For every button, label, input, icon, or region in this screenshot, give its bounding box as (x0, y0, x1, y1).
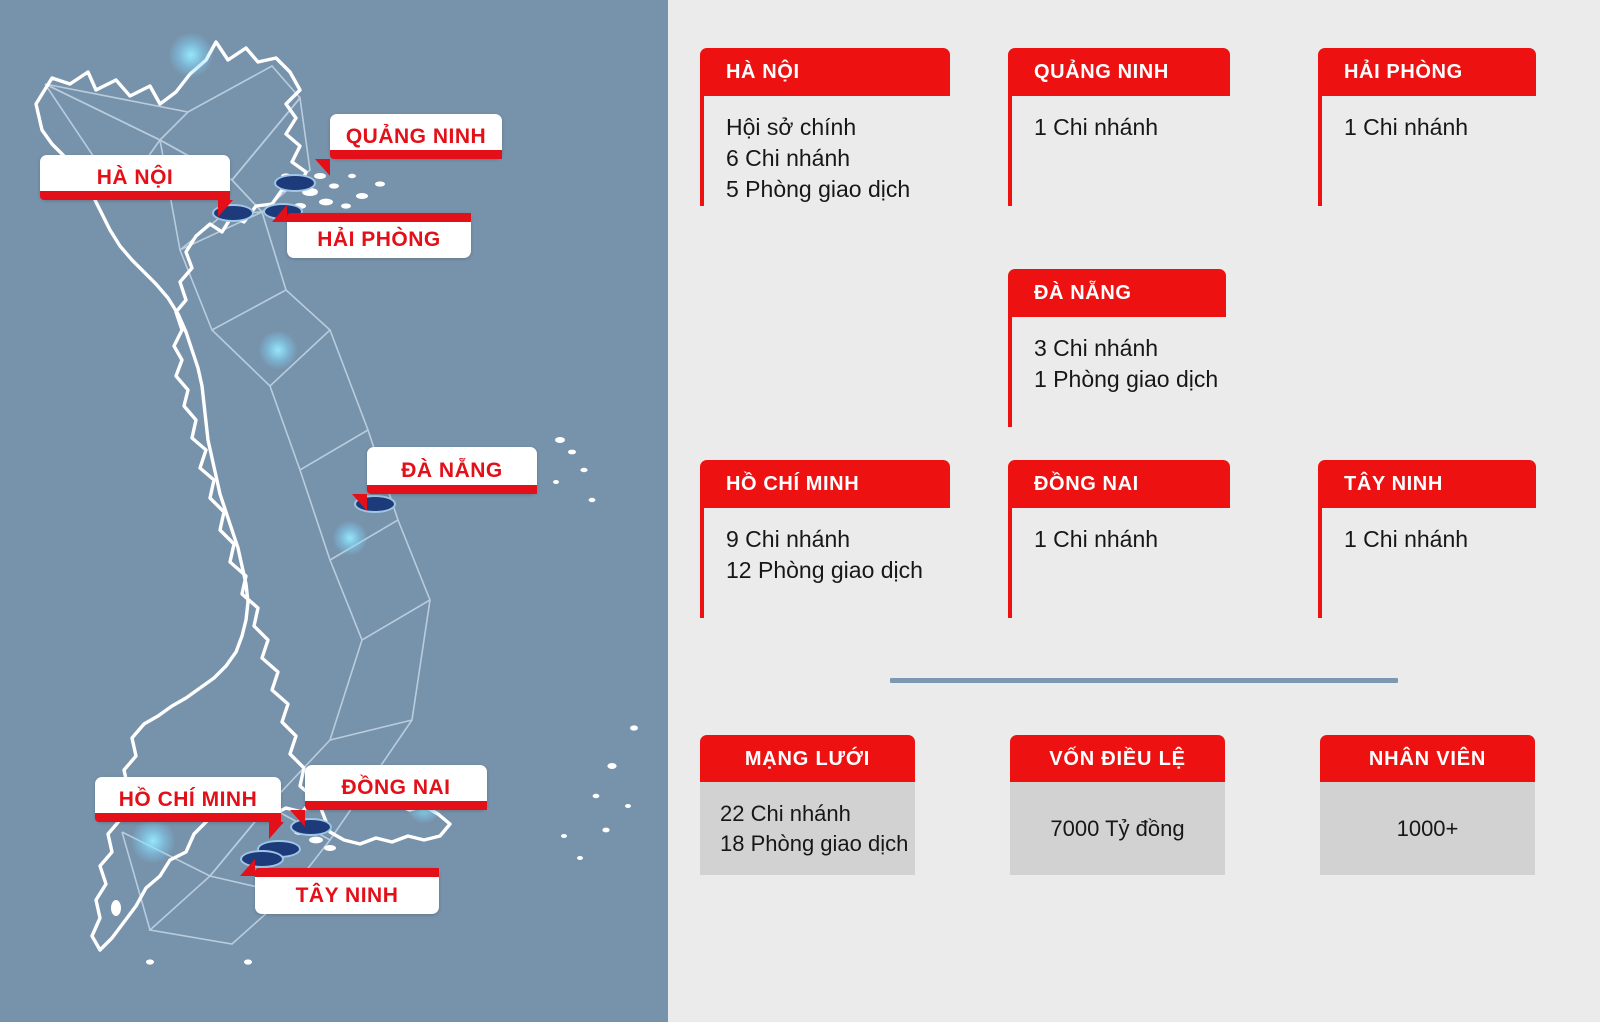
city-card-line: Hội sở chính (726, 112, 950, 143)
city-card-body: 9 Chi nhánh 12 Phòng giao dịch (700, 508, 950, 618)
map-pointer-ho-chi-minh (269, 822, 284, 839)
map-label-text: HẢI PHÒNG (317, 229, 441, 250)
city-card-header: QUẢNG NINH (1008, 48, 1230, 96)
city-card-body: 1 Chi nhánh (1318, 96, 1536, 206)
map-label-text: HÀ NỘI (97, 167, 174, 188)
section-divider (890, 678, 1398, 683)
map-label-ho-chi-minh[interactable]: HỒ CHÍ MINH (95, 777, 281, 822)
map-label-bar (305, 801, 487, 810)
city-card-header: HẢI PHÒNG (1318, 48, 1536, 96)
map-label-bar (367, 485, 537, 494)
city-card-line: 5 Phòng giao dịch (726, 174, 950, 205)
map-glow (258, 330, 298, 370)
city-card-title: ĐÀ NẴNG (1034, 283, 1132, 303)
city-card-header: ĐÀ NẴNG (1008, 269, 1226, 317)
map-pointer-da-nang (352, 494, 367, 511)
city-card-ho-chi-minh[interactable]: HỒ CHÍ MINH 9 Chi nhánh 12 Phòng giao dị… (700, 460, 950, 618)
map-label-bar (330, 150, 502, 159)
stat-card-header: MẠNG LƯỚI (700, 735, 915, 782)
map-pointer-hai-phong (272, 205, 287, 222)
map-glow (168, 32, 214, 78)
city-card-line: 1 Phòng giao dịch (1034, 364, 1226, 395)
map-label-tay-ninh[interactable]: TÂY NINH (255, 868, 439, 914)
city-card-ha-noi[interactable]: HÀ NỘI Hội sở chính 6 Chi nhánh 5 Phòng … (700, 48, 950, 206)
stat-card-title: VỐN ĐIỀU LỆ (1049, 749, 1186, 769)
city-card-line: 6 Chi nhánh (726, 143, 950, 174)
stat-card-header: NHÂN VIÊN (1320, 735, 1535, 782)
stat-card-title: MẠNG LƯỚI (745, 749, 870, 769)
stat-card-line: 22 Chi nhánh (720, 799, 851, 829)
stat-card-body: 7000 Tỷ đồng (1010, 782, 1225, 875)
map-label-text: ĐỒNG NAI (342, 777, 451, 798)
map-pointer-ha-noi (218, 200, 233, 217)
map-label-hai-phong[interactable]: HẢI PHÒNG (287, 213, 471, 258)
map-label-text: QUẢNG NINH (346, 126, 486, 147)
stat-card-body: 1000+ (1320, 782, 1535, 875)
city-card-body: 1 Chi nhánh (1008, 96, 1230, 206)
map-pointer-quang-ninh (315, 159, 330, 176)
city-card-da-nang[interactable]: ĐÀ NẴNG 3 Chi nhánh 1 Phòng giao dịch (1008, 269, 1226, 427)
city-card-line: 1 Chi nhánh (1034, 524, 1230, 555)
city-card-line: 12 Phòng giao dịch (726, 555, 950, 586)
map-label-bar (95, 813, 281, 822)
map-label-text: HỒ CHÍ MINH (119, 789, 258, 810)
city-card-title: QUẢNG NINH (1034, 62, 1169, 82)
map-pointer-dong-nai (290, 810, 305, 827)
stat-card-body: 22 Chi nhánh 18 Phòng giao dịch (700, 782, 915, 875)
map-label-text: TÂY NINH (296, 885, 399, 906)
city-card-title: TÂY NINH (1344, 474, 1443, 494)
city-card-title: HẢI PHÒNG (1344, 62, 1463, 82)
city-card-body: 1 Chi nhánh (1318, 508, 1536, 618)
city-card-header: TÂY NINH (1318, 460, 1536, 508)
stat-card-line: 1000+ (1397, 814, 1459, 844)
stat-card-header: VỐN ĐIỀU LỆ (1010, 735, 1225, 782)
city-card-line: 3 Chi nhánh (1034, 333, 1226, 364)
map-label-bar (255, 868, 439, 877)
map-glow (332, 520, 368, 556)
map-pointer-tay-ninh (240, 859, 255, 876)
map-label-text: ĐÀ NẴNG (401, 460, 503, 481)
map-marker-quang-ninh[interactable] (274, 174, 316, 192)
stat-card-mang-luoi[interactable]: MẠNG LƯỚI 22 Chi nhánh 18 Phòng giao dịc… (700, 735, 915, 875)
stat-card-nhan-vien[interactable]: NHÂN VIÊN 1000+ (1320, 735, 1535, 875)
stat-card-von-dieu-le[interactable]: VỐN ĐIỀU LỆ 7000 Tỷ đồng (1010, 735, 1225, 875)
city-card-line: 9 Chi nhánh (726, 524, 950, 555)
city-card-quang-ninh[interactable]: QUẢNG NINH 1 Chi nhánh (1008, 48, 1230, 206)
map-label-bar (40, 191, 230, 200)
city-card-dong-nai[interactable]: ĐỒNG NAI 1 Chi nhánh (1008, 460, 1230, 618)
city-card-body: 3 Chi nhánh 1 Phòng giao dịch (1008, 317, 1226, 427)
city-card-tay-ninh[interactable]: TÂY NINH 1 Chi nhánh (1318, 460, 1536, 618)
vietnam-map-panel: HÀ NỘI QUẢNG NINH HẢI PHÒNG ĐÀ NẴNG HỒ C… (0, 0, 668, 1022)
stat-card-line: 18 Phòng giao dịch (720, 829, 908, 859)
city-card-line: 1 Chi nhánh (1344, 524, 1536, 555)
map-label-ha-noi[interactable]: HÀ NỘI (40, 155, 230, 200)
stat-card-title: NHÂN VIÊN (1369, 749, 1486, 769)
stat-card-line: 7000 Tỷ đồng (1050, 814, 1184, 844)
city-card-line: 1 Chi nhánh (1344, 112, 1536, 143)
city-card-hai-phong[interactable]: HẢI PHÒNG 1 Chi nhánh (1318, 48, 1536, 206)
city-card-body: Hội sở chính 6 Chi nhánh 5 Phòng giao dị… (700, 96, 950, 206)
city-card-body: 1 Chi nhánh (1008, 508, 1230, 618)
city-card-header: HỒ CHÍ MINH (700, 460, 950, 508)
city-card-line: 1 Chi nhánh (1034, 112, 1230, 143)
city-card-title: HÀ NỘI (726, 62, 800, 82)
map-label-bar (287, 213, 471, 222)
city-card-title: HỒ CHÍ MINH (726, 474, 859, 494)
map-label-quang-ninh[interactable]: QUẢNG NINH (330, 114, 502, 159)
infographic-root: HÀ NỘI QUẢNG NINH HẢI PHÒNG ĐÀ NẴNG HỒ C… (0, 0, 1600, 1022)
city-card-header: ĐỒNG NAI (1008, 460, 1230, 508)
map-label-da-nang[interactable]: ĐÀ NẴNG (367, 447, 537, 494)
info-panel: HÀ NỘI Hội sở chính 6 Chi nhánh 5 Phòng … (668, 0, 1600, 1022)
map-label-dong-nai[interactable]: ĐỒNG NAI (305, 765, 487, 810)
map-glow (130, 818, 176, 864)
city-card-title: ĐỒNG NAI (1034, 474, 1139, 494)
city-card-header: HÀ NỘI (700, 48, 950, 96)
